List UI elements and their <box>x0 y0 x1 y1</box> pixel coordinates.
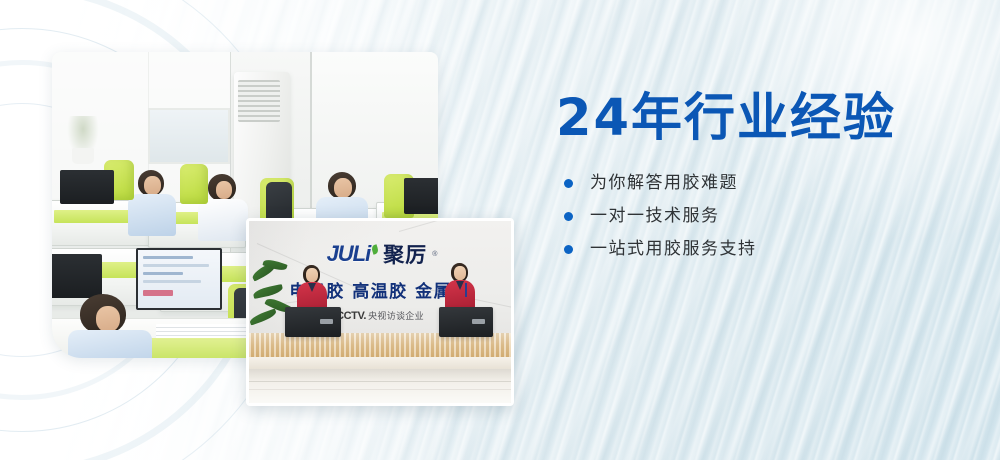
logo-wordmark-en: JULi <box>327 241 371 267</box>
monitor <box>404 178 438 214</box>
bullet-dot-icon <box>564 179 573 188</box>
bullet-dot-icon <box>564 212 573 221</box>
employee-face <box>144 176 161 195</box>
feature-list: 为你解答用胶难题 一对一技术服务 一站式用胶服务支持 <box>564 175 956 258</box>
employee-face <box>216 181 232 199</box>
reception-monitor-right <box>439 307 493 337</box>
receptionist-lanyard <box>465 283 467 297</box>
banner-content: 24年行业经验 为你解答用胶难题 一对一技术服务 一站式用胶服务支持 <box>556 92 956 274</box>
computer-screen <box>136 248 222 310</box>
reception-desk-top <box>249 357 511 369</box>
bullet-dot-icon <box>564 245 573 254</box>
employee-foreground <box>74 294 148 358</box>
hero-banner: JULi 聚厉 ® 电子胶 高温胶 金属胶 CCTV.央视访谈企业 <box>0 0 1000 460</box>
list-item: 为你解答用胶难题 <box>564 175 956 192</box>
reception-scene: JULi 聚厉 ® 电子胶 高温胶 金属胶 CCTV.央视访谈企业 <box>249 221 511 403</box>
logo-trademark-symbol: ® <box>432 251 437 258</box>
cctv-caption: 央视访谈企业 <box>368 312 424 322</box>
floor-line <box>249 389 511 390</box>
page-title: 24年行业经验 <box>556 92 956 146</box>
list-item-label: 一对一技术服务 <box>590 208 720 225</box>
reception-monitor-left <box>285 307 341 337</box>
office-window <box>148 108 230 164</box>
employee-face <box>334 178 352 198</box>
monitor <box>60 170 114 204</box>
logo-leaf-icon <box>371 244 379 254</box>
monitor <box>52 254 102 298</box>
receptionist-face <box>454 266 466 280</box>
employee-body <box>128 194 176 236</box>
list-item: 一站式用胶服务支持 <box>564 241 956 258</box>
plant-leaf <box>252 284 283 299</box>
reception-photo: JULi 聚厉 ® 电子胶 高温胶 金属胶 CCTV.央视访谈企业 <box>246 218 514 406</box>
logo-wordmark-cn: 聚厉 <box>383 239 427 269</box>
list-item-label: 一站式用胶服务支持 <box>590 241 757 258</box>
list-item-label: 为你解答用胶难题 <box>590 175 738 192</box>
list-item: 一对一技术服务 <box>564 208 956 225</box>
air-conditioner-grill <box>238 80 280 122</box>
floor-line <box>249 381 511 382</box>
office-chair <box>180 164 208 204</box>
receptionist-face <box>306 268 318 282</box>
employee-face <box>96 306 120 332</box>
employee-body <box>198 199 248 241</box>
employee-body <box>68 330 152 358</box>
plant-leaf <box>248 308 277 325</box>
plant-pot <box>72 148 94 164</box>
reception-floor <box>249 369 511 403</box>
